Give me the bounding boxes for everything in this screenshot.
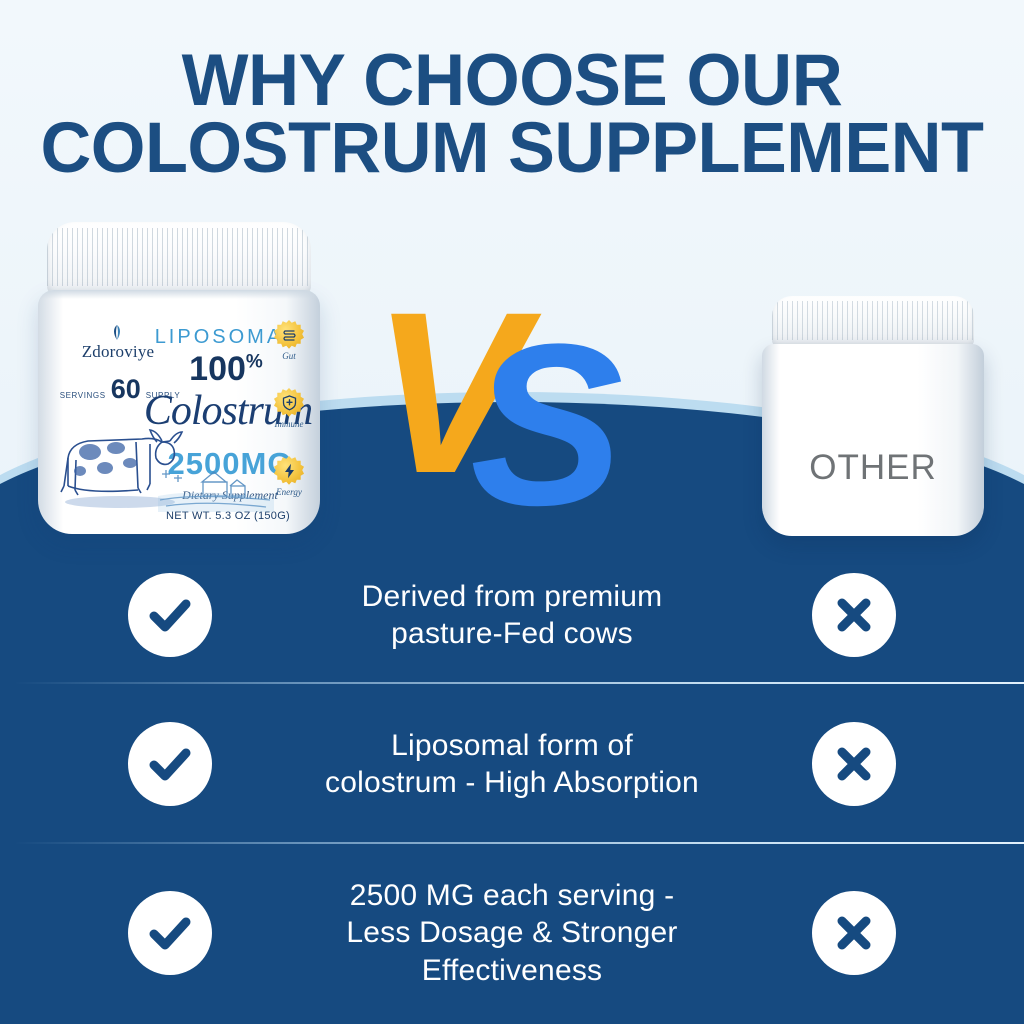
page-title-line1: WHY CHOOSE OUR	[15, 46, 1008, 115]
comparison-row: 2500 MG each serving - Less Dosage & Str…	[0, 844, 1024, 1022]
percent-symbol: %	[246, 352, 263, 373]
row-line: pasture-Fed cows	[230, 615, 794, 653]
row-line: Effectiveness	[230, 952, 794, 990]
lightning-bolt-icon	[274, 456, 304, 486]
badge-immune: Immune	[274, 388, 304, 418]
jar-cap-other	[772, 296, 974, 348]
row-line: Less Dosage & Stronger	[230, 914, 794, 952]
row-line: 2500 MG each serving -	[230, 877, 794, 915]
versus-letter-s: S	[470, 310, 623, 540]
competitor-label: OTHER	[762, 448, 984, 488]
jar-cap-ours	[47, 222, 311, 296]
versus-graphic: V S	[372, 278, 652, 528]
product-jar-ours: Zdoroviye SERVINGS 60 SUPPLY LIPOSOMAL 1…	[38, 222, 320, 534]
leaf-swirl-icon	[108, 324, 126, 342]
farm-scene-illustration	[156, 452, 276, 514]
servings-count: 60	[111, 374, 141, 405]
jar-rim-ours	[38, 290, 320, 299]
cross-icon	[812, 573, 896, 657]
check-icon	[128, 891, 212, 975]
servings-prefix: SERVINGS	[60, 391, 106, 400]
comparison-row: Derived from premium pasture-Fed cows	[0, 546, 1024, 684]
cross-icon	[812, 891, 896, 975]
page-title: WHY CHOOSE OUR COLOSTRUM SUPPLEMENT	[0, 46, 1024, 183]
jar-body-ours: Zdoroviye SERVINGS 60 SUPPLY LIPOSOMAL 1…	[38, 290, 320, 534]
jar-body-other: OTHER	[762, 344, 984, 536]
badge-energy: Energy	[274, 456, 304, 486]
comparison-row-text: Liposomal form of colostrum - High Absor…	[212, 727, 812, 802]
badge-energy-label: Energy	[268, 487, 310, 497]
comparison-row-text: 2500 MG each serving - Less Dosage & Str…	[212, 877, 812, 990]
shield-plus-icon	[274, 388, 304, 418]
row-line: Derived from premium	[230, 578, 794, 616]
cross-icon	[812, 722, 896, 806]
comparison-table: Derived from premium pasture-Fed cows Li…	[0, 546, 1024, 1022]
check-icon	[128, 722, 212, 806]
product-comparison-poster: WHY CHOOSE OUR COLOSTRUM SUPPLEMENT Zdor…	[0, 0, 1024, 1024]
comparison-row: Liposomal form of colostrum - High Absor…	[0, 684, 1024, 844]
intestine-icon	[274, 320, 304, 350]
row-line: colostrum - High Absorption	[230, 764, 794, 802]
badge-gut-label: Gut	[268, 351, 310, 361]
check-icon	[128, 573, 212, 657]
comparison-row-text: Derived from premium pasture-Fed cows	[212, 578, 812, 653]
row-line: Liposomal form of	[230, 727, 794, 765]
product-jar-other: OTHER	[762, 296, 984, 536]
badge-immune-label: Immune	[268, 419, 310, 429]
page-title-line2: COLOSTRUM SUPPLEMENT	[5, 115, 1019, 182]
badge-gut: Gut	[274, 320, 304, 350]
percent-number: 100	[189, 350, 246, 388]
